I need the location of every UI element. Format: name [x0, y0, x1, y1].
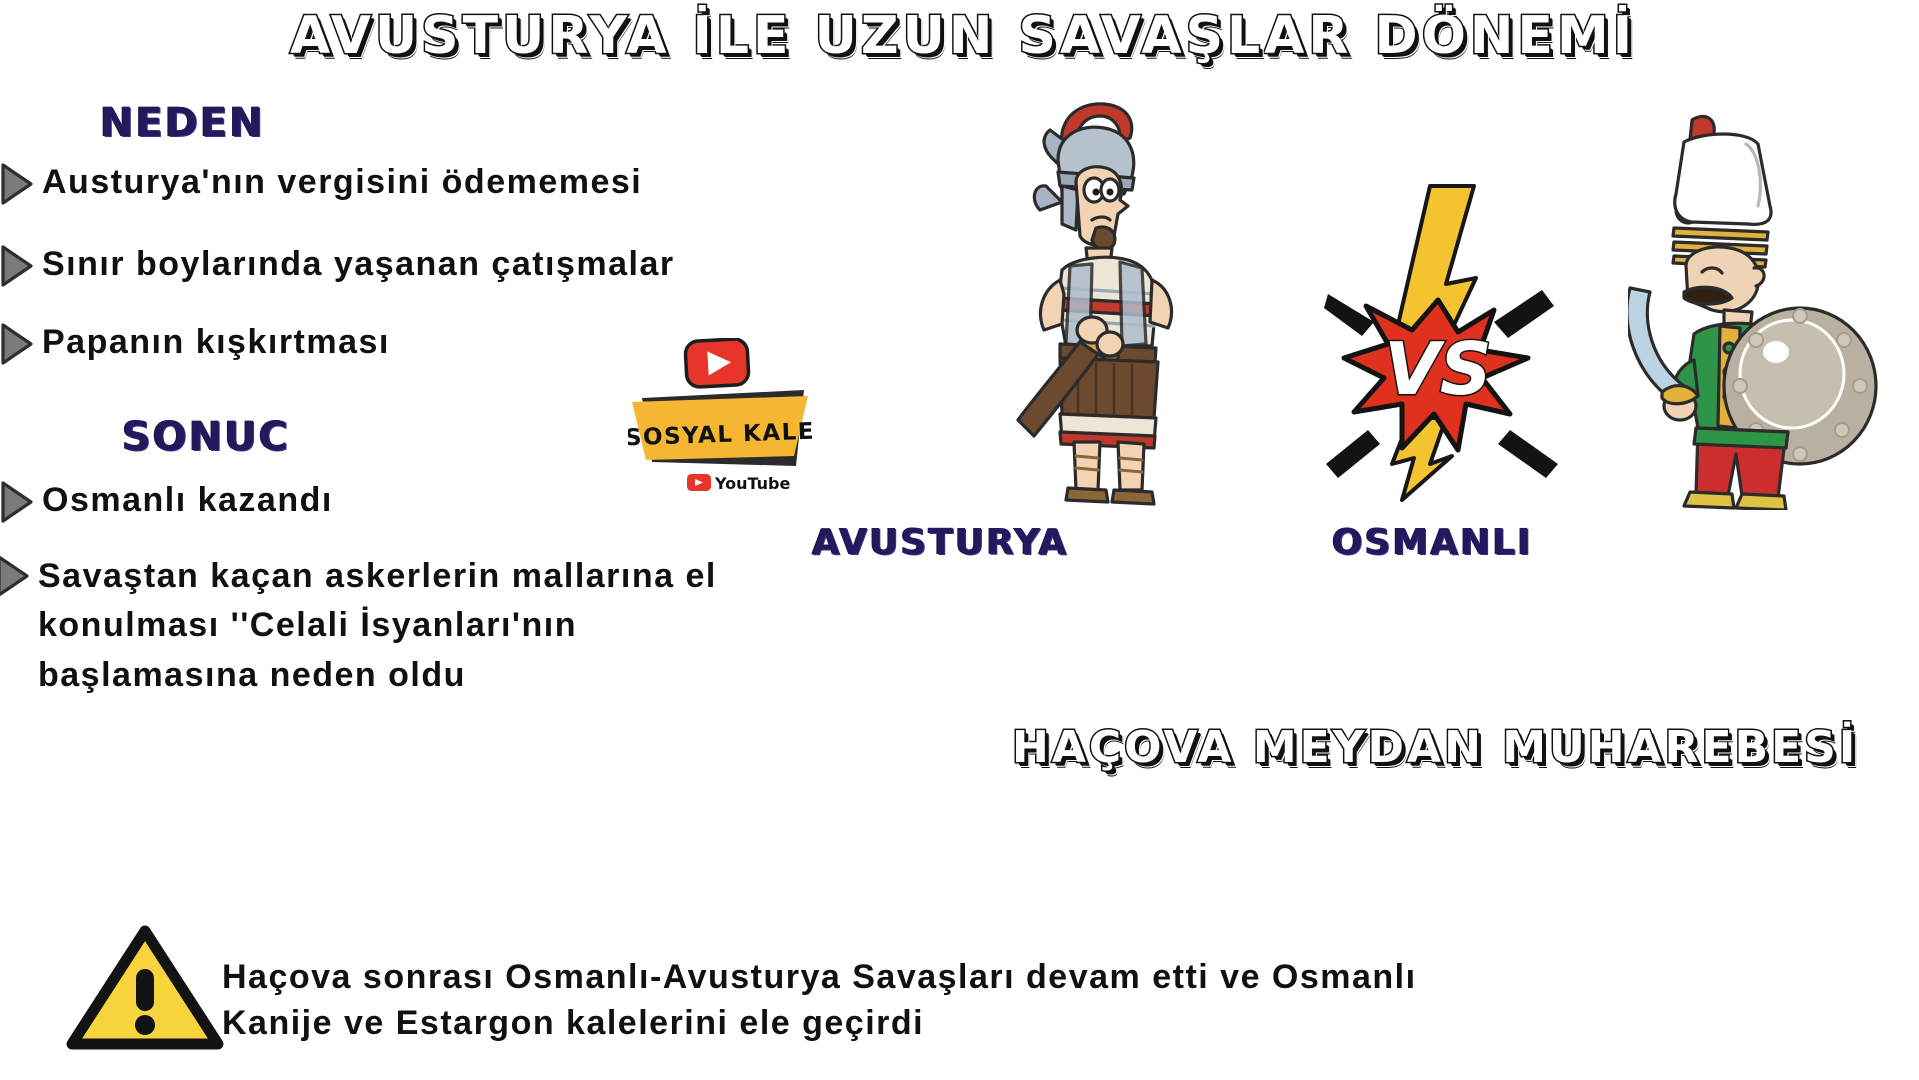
- footer-note: Haçova sonrası Osmanlı-Avusturya Savaşla…: [222, 955, 1912, 1046]
- triangle-bullet-icon: [0, 480, 34, 524]
- list-item: Austurya'nın vergisini ödememesi: [16, 160, 642, 206]
- warning-triangle-icon: [66, 925, 224, 1050]
- battle-caption: HAÇOVA MEYDAN MUHAREBESİ: [1012, 722, 1858, 773]
- logo-platform-label: YouTube: [714, 474, 791, 493]
- triangle-bullet-icon: [0, 322, 34, 366]
- section-heading-causes: NEDEN: [100, 100, 265, 146]
- list-item: Papanın kışkırtması: [16, 320, 390, 366]
- avusturya-soldier-illustration: [1000, 98, 1240, 508]
- figure-label-avusturya: AVUSTURYA: [812, 522, 1068, 563]
- list-item-label: Papanın kışkırtması: [42, 320, 390, 366]
- section-heading-results: SONUC: [122, 414, 290, 460]
- footer-note-line1: Haçova sonrası Osmanlı-Avusturya Savaşla…: [222, 955, 1912, 1001]
- youtube-badge: YouTube: [687, 474, 791, 493]
- triangle-bullet-icon: [0, 554, 30, 598]
- list-item-label: Savaştan kaçan askerlerin mallarına el k…: [38, 552, 802, 700]
- triangle-bullet-icon: [0, 244, 34, 288]
- list-item: Osmanlı kazandı: [16, 478, 333, 524]
- list-item-label: Osmanlı kazandı: [42, 478, 333, 524]
- versus-graphic: VS: [1318, 182, 1568, 502]
- versus-label: VS: [1384, 327, 1492, 411]
- list-item: Sınır boylarında yaşanan çatışmalar: [16, 242, 675, 288]
- list-item-label: Sınır boylarında yaşanan çatışmalar: [42, 242, 675, 288]
- osmanli-soldier-illustration: [1628, 110, 1890, 510]
- list-item: Savaştan kaçan askerlerin mallarına el k…: [12, 552, 802, 700]
- youtube-play-icon: [685, 338, 749, 387]
- figure-label-osmanli: OSMANLI: [1332, 522, 1533, 563]
- list-item-label: Austurya'nın vergisini ödememesi: [42, 160, 642, 206]
- triangle-bullet-icon: [0, 162, 34, 206]
- footer-note-line2: Kanije ve Estargon kalelerini ele geçird…: [222, 1001, 1912, 1047]
- sosyal-kale-logo[interactable]: SOSYAL KALE YouTube: [628, 338, 818, 503]
- slide-canvas: AVUSTURYA İLE UZUN SAVAŞLAR DÖNEMİ NEDEN…: [0, 0, 1919, 1080]
- page-title: AVUSTURYA İLE UZUN SAVAŞLAR DÖNEMİ: [290, 6, 1636, 66]
